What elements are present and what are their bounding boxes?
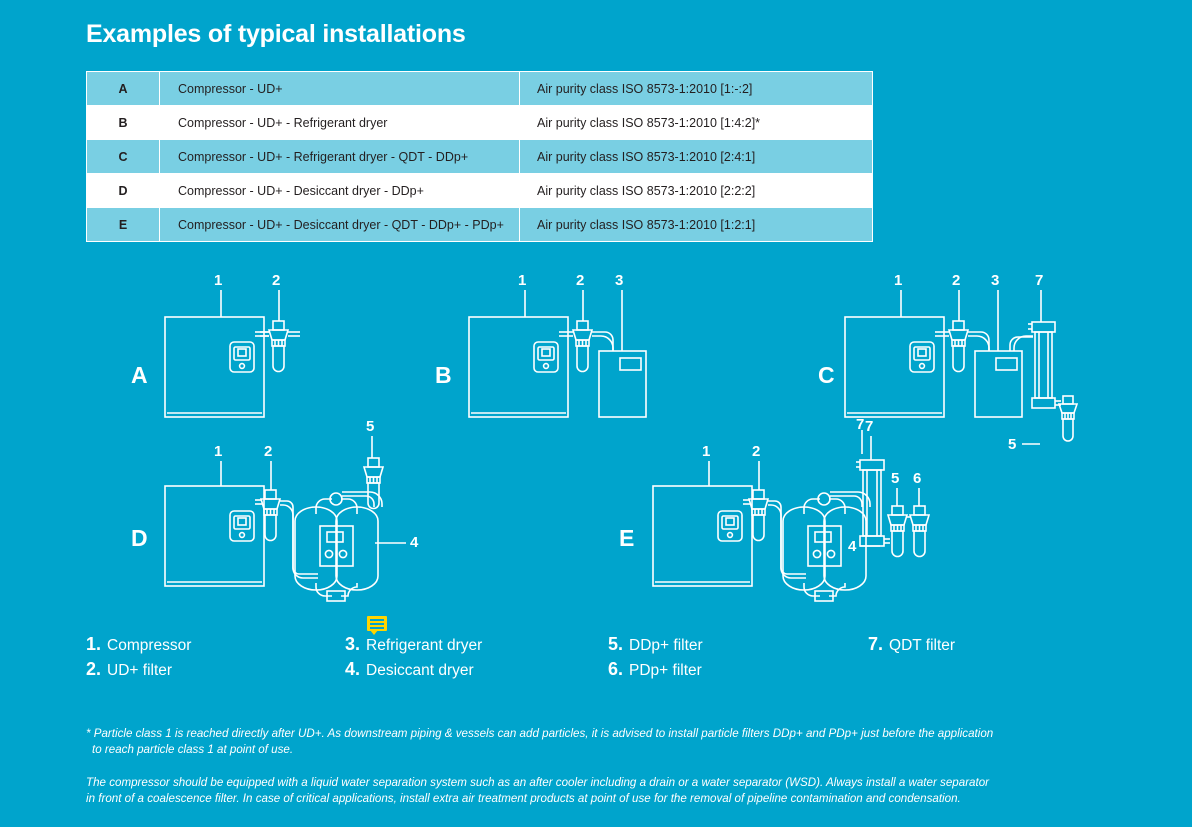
compressor-button bbox=[240, 533, 245, 538]
pipe-filter-to-dryer-inner bbox=[592, 336, 613, 351]
refrigerant-dryer-display bbox=[620, 358, 641, 370]
compressor-body bbox=[653, 486, 752, 586]
desiccant-tower-right bbox=[824, 507, 866, 590]
filter-2-bowl bbox=[273, 346, 284, 372]
legend-label: QDT filter bbox=[889, 637, 955, 655]
legend-label: Compressor bbox=[107, 637, 191, 655]
callout-1-label: 1 bbox=[214, 272, 222, 289]
compressor-body bbox=[165, 317, 264, 417]
row-configuration: Compressor - UD+ - Refrigerant dryer - Q… bbox=[160, 140, 520, 174]
row-air-class: Air purity class ISO 8573-1:2010 [1:-:2] bbox=[520, 72, 873, 106]
pipe-filter-to-dryer-outer bbox=[968, 332, 989, 351]
diagram-c-label: C bbox=[818, 362, 835, 389]
pipe-filter-to-dryer-outer bbox=[592, 332, 613, 351]
filter-2-cap bbox=[273, 321, 284, 330]
table-body: A Compressor - UD+ Air purity class ISO … bbox=[87, 72, 873, 242]
callout-6-label: 6 bbox=[913, 470, 921, 487]
desiccant-gauge-left bbox=[325, 550, 332, 557]
legend-item-qdt-filter: 7. QDT filter bbox=[868, 634, 955, 659]
table-row: E Compressor - UD+ - Desiccant dryer - Q… bbox=[87, 208, 873, 242]
legend-item-compressor: 1. Compressor bbox=[86, 634, 191, 659]
filter-5-cap bbox=[368, 458, 379, 467]
row-air-class: Air purity class ISO 8573-1:2010 [1:2:1] bbox=[520, 208, 873, 242]
row-letter: C bbox=[87, 140, 160, 174]
callout-4-label: 4 bbox=[410, 534, 418, 551]
filter-2-bowl bbox=[753, 515, 764, 541]
filter-6-cap bbox=[914, 506, 925, 515]
filter-2-cap bbox=[753, 490, 764, 499]
filter-5-cap bbox=[892, 506, 903, 515]
desiccant-display bbox=[327, 532, 343, 542]
legend-number: 7. bbox=[868, 634, 883, 655]
filter-2-head bbox=[573, 330, 592, 340]
legend-number: 3. bbox=[345, 634, 360, 655]
legend-column-4: 7. QDT filter bbox=[868, 634, 955, 659]
callout-5-label: 5 bbox=[891, 470, 899, 487]
installation-diagrams: A bbox=[0, 258, 1192, 613]
row-configuration: Compressor - UD+ - Desiccant dryer - QDT… bbox=[160, 208, 520, 242]
legend-item-desiccant-dryer: 4. Desiccant dryer bbox=[345, 659, 482, 684]
row-configuration: Compressor - UD+ - Desiccant dryer - DDp… bbox=[160, 174, 520, 208]
filter-2-bowl bbox=[265, 515, 276, 541]
legend-label: Desiccant dryer bbox=[366, 662, 474, 680]
filter-5-head bbox=[364, 467, 383, 477]
legend-label: UD+ filter bbox=[107, 662, 172, 680]
callout-2-label: 2 bbox=[752, 443, 760, 460]
refrigerant-dryer-display bbox=[996, 358, 1017, 370]
filter-6-bowl bbox=[914, 531, 925, 557]
legend-column-3: 5. DDp+ filter 6. PDp+ filter bbox=[608, 634, 703, 684]
legend-item-pdp-filter: 6. PDp+ filter bbox=[608, 659, 703, 684]
footnote-2-line-1: The compressor should be equipped with a… bbox=[86, 776, 989, 789]
legend-column-2: 3. Refrigerant dryer 4. Desiccant dryer bbox=[345, 634, 482, 684]
callout-1-label: 1 bbox=[214, 443, 222, 460]
callout-2-label: 2 bbox=[576, 272, 584, 289]
filter-6-head bbox=[910, 515, 929, 525]
table-row: C Compressor - UD+ - Refrigerant dryer -… bbox=[87, 140, 873, 174]
row-letter: E bbox=[87, 208, 160, 242]
footnote-water-separation: The compressor should be equipped with a… bbox=[86, 775, 1106, 808]
pipe-filter-to-dryer-inner bbox=[968, 336, 989, 351]
callout-7-label: 7 bbox=[1035, 272, 1043, 289]
filter-5-head bbox=[888, 515, 907, 525]
legend-label: DDp+ filter bbox=[629, 637, 703, 655]
compressor-screen-inner bbox=[726, 518, 734, 525]
footnote-particle-class: * Particle class 1 is reached directly a… bbox=[86, 726, 1106, 759]
desiccant-gauge-right bbox=[827, 550, 834, 557]
legend-label: Refrigerant dryer bbox=[366, 637, 482, 655]
footnote-1-line-2: to reach particle class 1 at point of us… bbox=[86, 742, 1106, 758]
diagram-e: E bbox=[608, 428, 948, 613]
pipe-dryer-to-qdt-outer bbox=[830, 496, 862, 507]
installations-table: A Compressor - UD+ Air purity class ISO … bbox=[86, 71, 873, 242]
legend-number: 2. bbox=[86, 659, 101, 680]
footnotes: * Particle class 1 is reached directly a… bbox=[86, 726, 1106, 824]
callout-2-label: 2 bbox=[952, 272, 960, 289]
compressor-screen-inner bbox=[918, 349, 926, 356]
compressor-screen-inner bbox=[238, 349, 246, 356]
callout-4-label: 4 bbox=[848, 538, 856, 555]
callout-3-label: 3 bbox=[991, 272, 999, 289]
compressor-button bbox=[920, 364, 925, 369]
qdt-top-cap bbox=[860, 460, 884, 470]
row-air-class: Air purity class ISO 8573-1:2010 [1:4:2]… bbox=[520, 106, 873, 140]
table-row: D Compressor - UD+ - Desiccant dryer - D… bbox=[87, 174, 873, 208]
compressor-body bbox=[845, 317, 944, 417]
legend-item-ddp-filter: 5. DDp+ filter bbox=[608, 634, 703, 659]
table-row: B Compressor - UD+ - Refrigerant dryer A… bbox=[87, 106, 873, 140]
callout-7-label: 7 bbox=[865, 418, 873, 435]
desiccant-gauge-left bbox=[813, 550, 820, 557]
note-icon bbox=[367, 616, 387, 631]
filter-2-cap bbox=[577, 321, 588, 330]
diagram-a-label: A bbox=[131, 362, 148, 389]
diagram-b: B 1 2 bbox=[424, 272, 654, 447]
footnote-1-line-1: * Particle class 1 is reached directly a… bbox=[86, 727, 993, 740]
legend-column-1: 1. Compressor 2. UD+ filter bbox=[86, 634, 191, 684]
desiccant-tower-right bbox=[336, 507, 378, 590]
legend-number: 4. bbox=[345, 659, 360, 680]
row-letter: D bbox=[87, 174, 160, 208]
desiccant-display bbox=[815, 532, 831, 542]
row-configuration: Compressor - UD+ - Refrigerant dryer bbox=[160, 106, 520, 140]
compressor-body bbox=[165, 486, 264, 586]
compressor-screen-inner bbox=[542, 349, 550, 356]
legend-item-refrigerant-dryer: 3. Refrigerant dryer bbox=[345, 634, 482, 659]
filter-2-head bbox=[949, 330, 968, 340]
page-title: Examples of typical installations bbox=[86, 20, 466, 49]
legend-item-ud-filter: 2. UD+ filter bbox=[86, 659, 191, 684]
legend-number: 1. bbox=[86, 634, 101, 655]
legend-label: PDp+ filter bbox=[629, 662, 702, 680]
row-letter: A bbox=[87, 72, 160, 106]
refrigerant-dryer-body bbox=[975, 351, 1022, 417]
qdt-top-cap bbox=[1032, 322, 1055, 332]
legend: 1. Compressor 2. UD+ filter 3. Refrigera… bbox=[0, 634, 1192, 696]
callout-5-label: 5 bbox=[1008, 436, 1016, 453]
row-air-class: Air purity class ISO 8573-1:2010 [2:4:1] bbox=[520, 140, 873, 174]
filter-2-head bbox=[269, 330, 288, 340]
row-air-class: Air purity class ISO 8573-1:2010 [2:2:2] bbox=[520, 174, 873, 208]
footnote-2-line-2: in front of a coalescence filter. In cas… bbox=[86, 791, 1106, 807]
diagram-d: D bbox=[120, 428, 450, 613]
filter-5-bowl bbox=[892, 531, 903, 557]
diagram-b-label: B bbox=[435, 362, 452, 389]
table-row: A Compressor - UD+ Air purity class ISO … bbox=[87, 72, 873, 106]
pipe-filter-to-dryer-inner bbox=[280, 505, 318, 578]
row-configuration: Compressor - UD+ bbox=[160, 72, 520, 106]
row-letter: B bbox=[87, 106, 160, 140]
callout-2-label: 2 bbox=[264, 443, 272, 460]
callout-1-label: 1 bbox=[894, 272, 902, 289]
filter-5-head bbox=[1059, 404, 1077, 413]
callout-3-label: 3 bbox=[615, 272, 623, 289]
filter-2-bowl bbox=[953, 346, 964, 372]
compressor-button bbox=[240, 364, 245, 369]
filter-2-cap bbox=[265, 490, 276, 499]
refrigerant-dryer-body bbox=[599, 351, 646, 417]
filter-2-bowl bbox=[577, 346, 588, 372]
qdt-column bbox=[1035, 332, 1052, 398]
callout-2-label: 2 bbox=[272, 272, 280, 289]
filter-5-bowl bbox=[1063, 419, 1073, 441]
legend-number: 5. bbox=[608, 634, 623, 655]
desiccant-gauge-right bbox=[339, 550, 346, 557]
compressor-button bbox=[544, 364, 549, 369]
pipe-filter-to-dryer-inner bbox=[768, 505, 806, 578]
legend-number: 6. bbox=[608, 659, 623, 680]
qdt-bottom-cap bbox=[860, 536, 884, 546]
filter-5-cap bbox=[1063, 396, 1073, 404]
filter-2-cap bbox=[953, 321, 964, 330]
callout-5-label: 5 bbox=[366, 418, 374, 435]
diagram-a: A bbox=[120, 272, 335, 447]
compressor-screen-inner bbox=[238, 518, 246, 525]
diagram-d-label: D bbox=[131, 525, 148, 552]
callout-1-label: 1 bbox=[518, 272, 526, 289]
compressor-body bbox=[469, 317, 568, 417]
callout-1-label: 1 bbox=[702, 443, 710, 460]
diagram-e-label: E bbox=[619, 525, 634, 552]
compressor-button bbox=[728, 533, 733, 538]
qdt-bottom-cap bbox=[1032, 398, 1055, 408]
pipe-dryer-to-qdt-inner bbox=[1014, 336, 1033, 351]
